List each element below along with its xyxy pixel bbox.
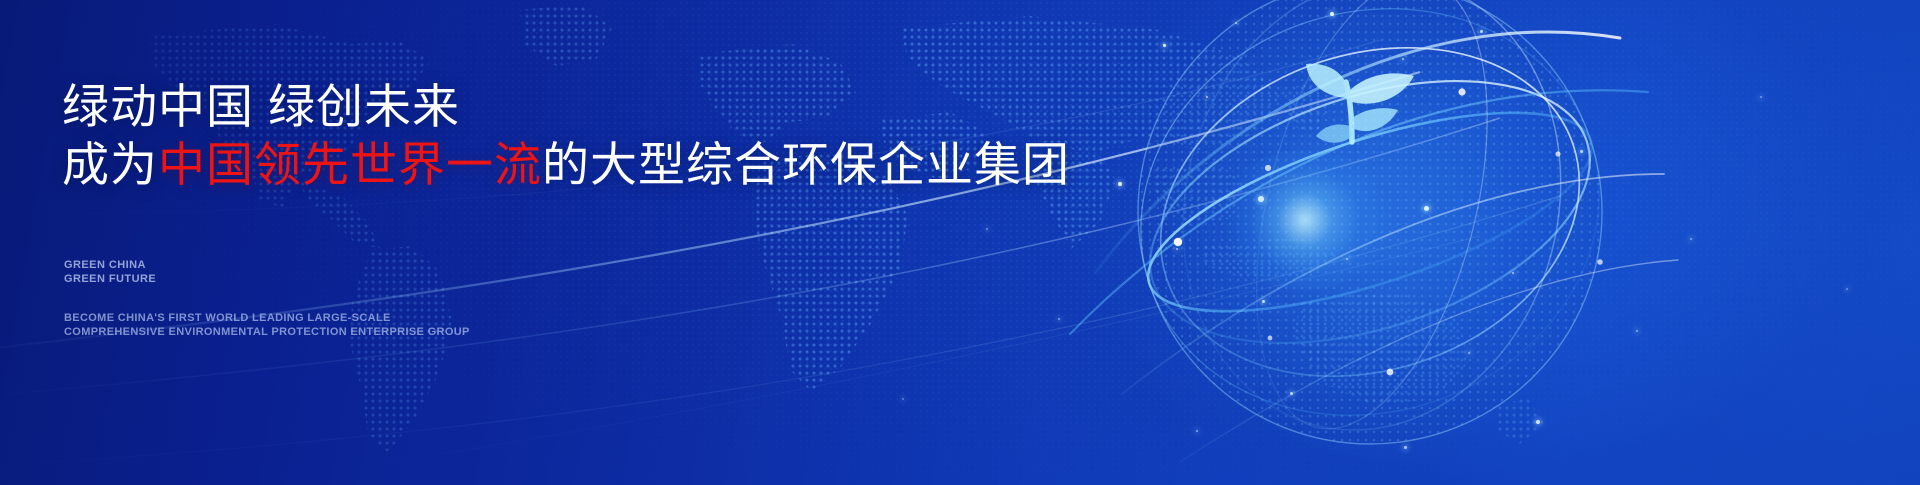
globe-ambient-glow — [1130, 0, 1610, 470]
headline-line-2-suffix: 的大型综合环保企业集团 — [542, 138, 1070, 191]
eyebrow-line-1: GREEN CHINA — [64, 258, 156, 272]
subcopy-line-1: BECOME CHINA'S FIRST WORLD LEADING LARGE… — [64, 311, 470, 325]
headline-line-1: 绿动中国 绿创未来 — [62, 80, 460, 133]
eyebrow-line-2: GREEN FUTURE — [64, 272, 156, 286]
globe-graphic — [1060, 0, 1680, 485]
hero-banner: 绿动中国 绿创未来 成为中国领先世界一流的大型综合环保企业集团 GREEN CH… — [0, 0, 1920, 485]
sprout-leaf-icon — [1306, 64, 1414, 143]
headline-line-2: 成为中国领先世界一流的大型综合环保企业集团 — [62, 136, 1070, 194]
subcopy-line-2: COMPREHENSIVE ENVIRONMENTAL PROTECTION E… — [64, 325, 470, 339]
headline: 绿动中国 绿创未来 成为中国领先世界一流的大型综合环保企业集团 — [62, 78, 1070, 194]
headline-line-2-accent: 中国领先世界一流 — [158, 138, 542, 191]
headline-line-2-prefix: 成为 — [62, 138, 158, 191]
banner-content: 绿动中国 绿创未来 成为中国领先世界一流的大型综合环保企业集团 GREEN CH… — [62, 0, 1062, 485]
globe-core-glow — [1215, 150, 1395, 290]
subcopy-text: BECOME CHINA'S FIRST WORLD LEADING LARGE… — [64, 311, 470, 339]
eyebrow-text: GREEN CHINA GREEN FUTURE — [64, 258, 156, 286]
